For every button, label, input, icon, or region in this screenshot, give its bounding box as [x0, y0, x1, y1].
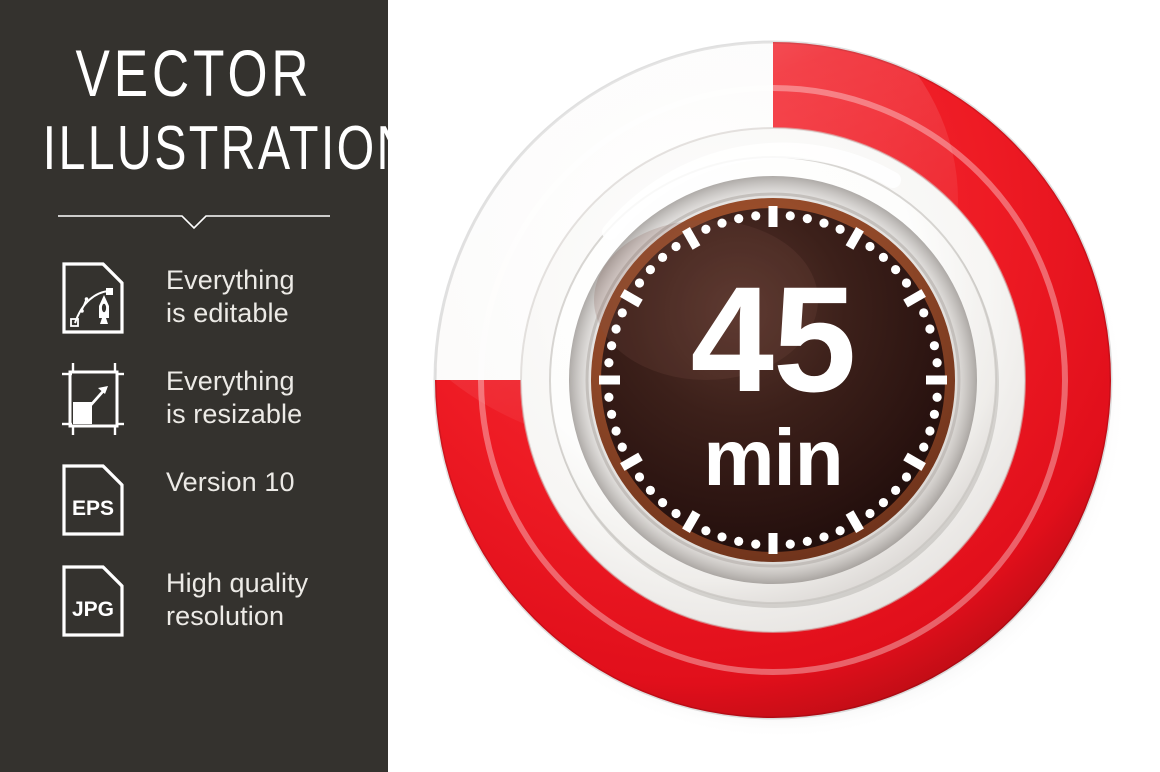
dial-minute-dot [925, 324, 934, 333]
dial-minute-dot [734, 537, 743, 546]
dial-minute-dot [819, 532, 828, 541]
illustration-canvas: VECTOR ILLUSTRATION [0, 0, 1160, 772]
left-info-panel: VECTOR ILLUSTRATION [0, 0, 388, 772]
dial-minute-dot [919, 308, 928, 317]
dial-minute-dot [671, 242, 680, 251]
dial-minute-dot [803, 214, 812, 223]
feature-list: Everything is editable [0, 262, 388, 666]
dial-minute-dot [618, 308, 627, 317]
jpg-file-icon-label: JPG [72, 598, 114, 621]
dial-minute-dot [618, 443, 627, 452]
dial-minute-dot [671, 509, 680, 518]
dial-minute-dot [611, 324, 620, 333]
dial-minute-dot [734, 214, 743, 223]
dial-minute-dot [607, 410, 616, 419]
dial-minute-dot [717, 218, 726, 227]
dial-minute-dot [891, 265, 900, 274]
title-block: VECTOR ILLUSTRATION [0, 40, 388, 180]
feature-label-resizable: Everything is resizable [166, 365, 302, 431]
dial-minute-dot [891, 486, 900, 495]
resize-crop-icon [62, 363, 124, 435]
dial-minute-dot [635, 278, 644, 287]
dial-minute-dot [879, 498, 888, 507]
feature-item-editable: Everything is editable [0, 262, 388, 363]
dial-minute-dot [836, 526, 845, 535]
dial-minute-dot [701, 225, 710, 234]
dial-minute-dot [865, 509, 874, 518]
dial-minute-dot [658, 253, 667, 262]
dial-minute-dot [635, 472, 644, 481]
dial-minute-dot [604, 358, 613, 367]
dial-minute-dot [646, 265, 655, 274]
coffee-cup-timer-svg [388, 0, 1160, 772]
dial-minute-dot [925, 426, 934, 435]
dial-minute-dot [879, 253, 888, 262]
eps-file-icon-label: EPS [72, 497, 114, 520]
feature-item-resizable: Everything is resizable [0, 363, 388, 464]
feature-label-quality: High quality resolution [166, 567, 308, 633]
dial-minute-dot [819, 218, 828, 227]
title-line-vector: VECTOR [43, 40, 346, 106]
dial-minute-dot [919, 443, 928, 452]
dial-minute-dot [646, 486, 655, 495]
coffee-cup-timer-illustration [388, 0, 1160, 772]
dial-minute-dot [902, 472, 911, 481]
feature-item-quality: JPG High quality resolution [0, 565, 388, 666]
feature-item-version: EPS Version 10 [0, 464, 388, 565]
dial-minute-dot [786, 540, 795, 549]
feature-label-editable: Everything is editable [166, 264, 295, 330]
divider-notch-icon [58, 208, 330, 232]
dial-minute-dot [902, 278, 911, 287]
dial-minute-dot [658, 498, 667, 507]
dial-minute-dot [933, 358, 942, 367]
coffee-surface [591, 198, 955, 562]
divider [58, 208, 330, 232]
dial-minute-dot [751, 540, 760, 549]
dial-minute-dot [836, 225, 845, 234]
dial-minute-dot [930, 341, 939, 350]
dial-minute-dot [751, 211, 760, 220]
jpg-file-icon: JPG [62, 565, 124, 637]
dial-minute-dot [701, 526, 710, 535]
dial-minute-dot [717, 532, 726, 541]
dial-minute-dot [803, 537, 812, 546]
pen-tool-document-icon [62, 262, 124, 334]
dial-minute-dot [607, 341, 616, 350]
title-line-illustration: ILLUSTRATION [43, 118, 346, 180]
eps-file-icon: EPS [62, 464, 124, 536]
dial-minute-dot [604, 393, 613, 402]
dial-minute-dot [611, 426, 620, 435]
feature-label-version: Version 10 [166, 466, 295, 499]
dial-minute-dot [786, 211, 795, 220]
dial-minute-dot [930, 410, 939, 419]
dial-minute-dot [865, 242, 874, 251]
dial-minute-dot [933, 393, 942, 402]
